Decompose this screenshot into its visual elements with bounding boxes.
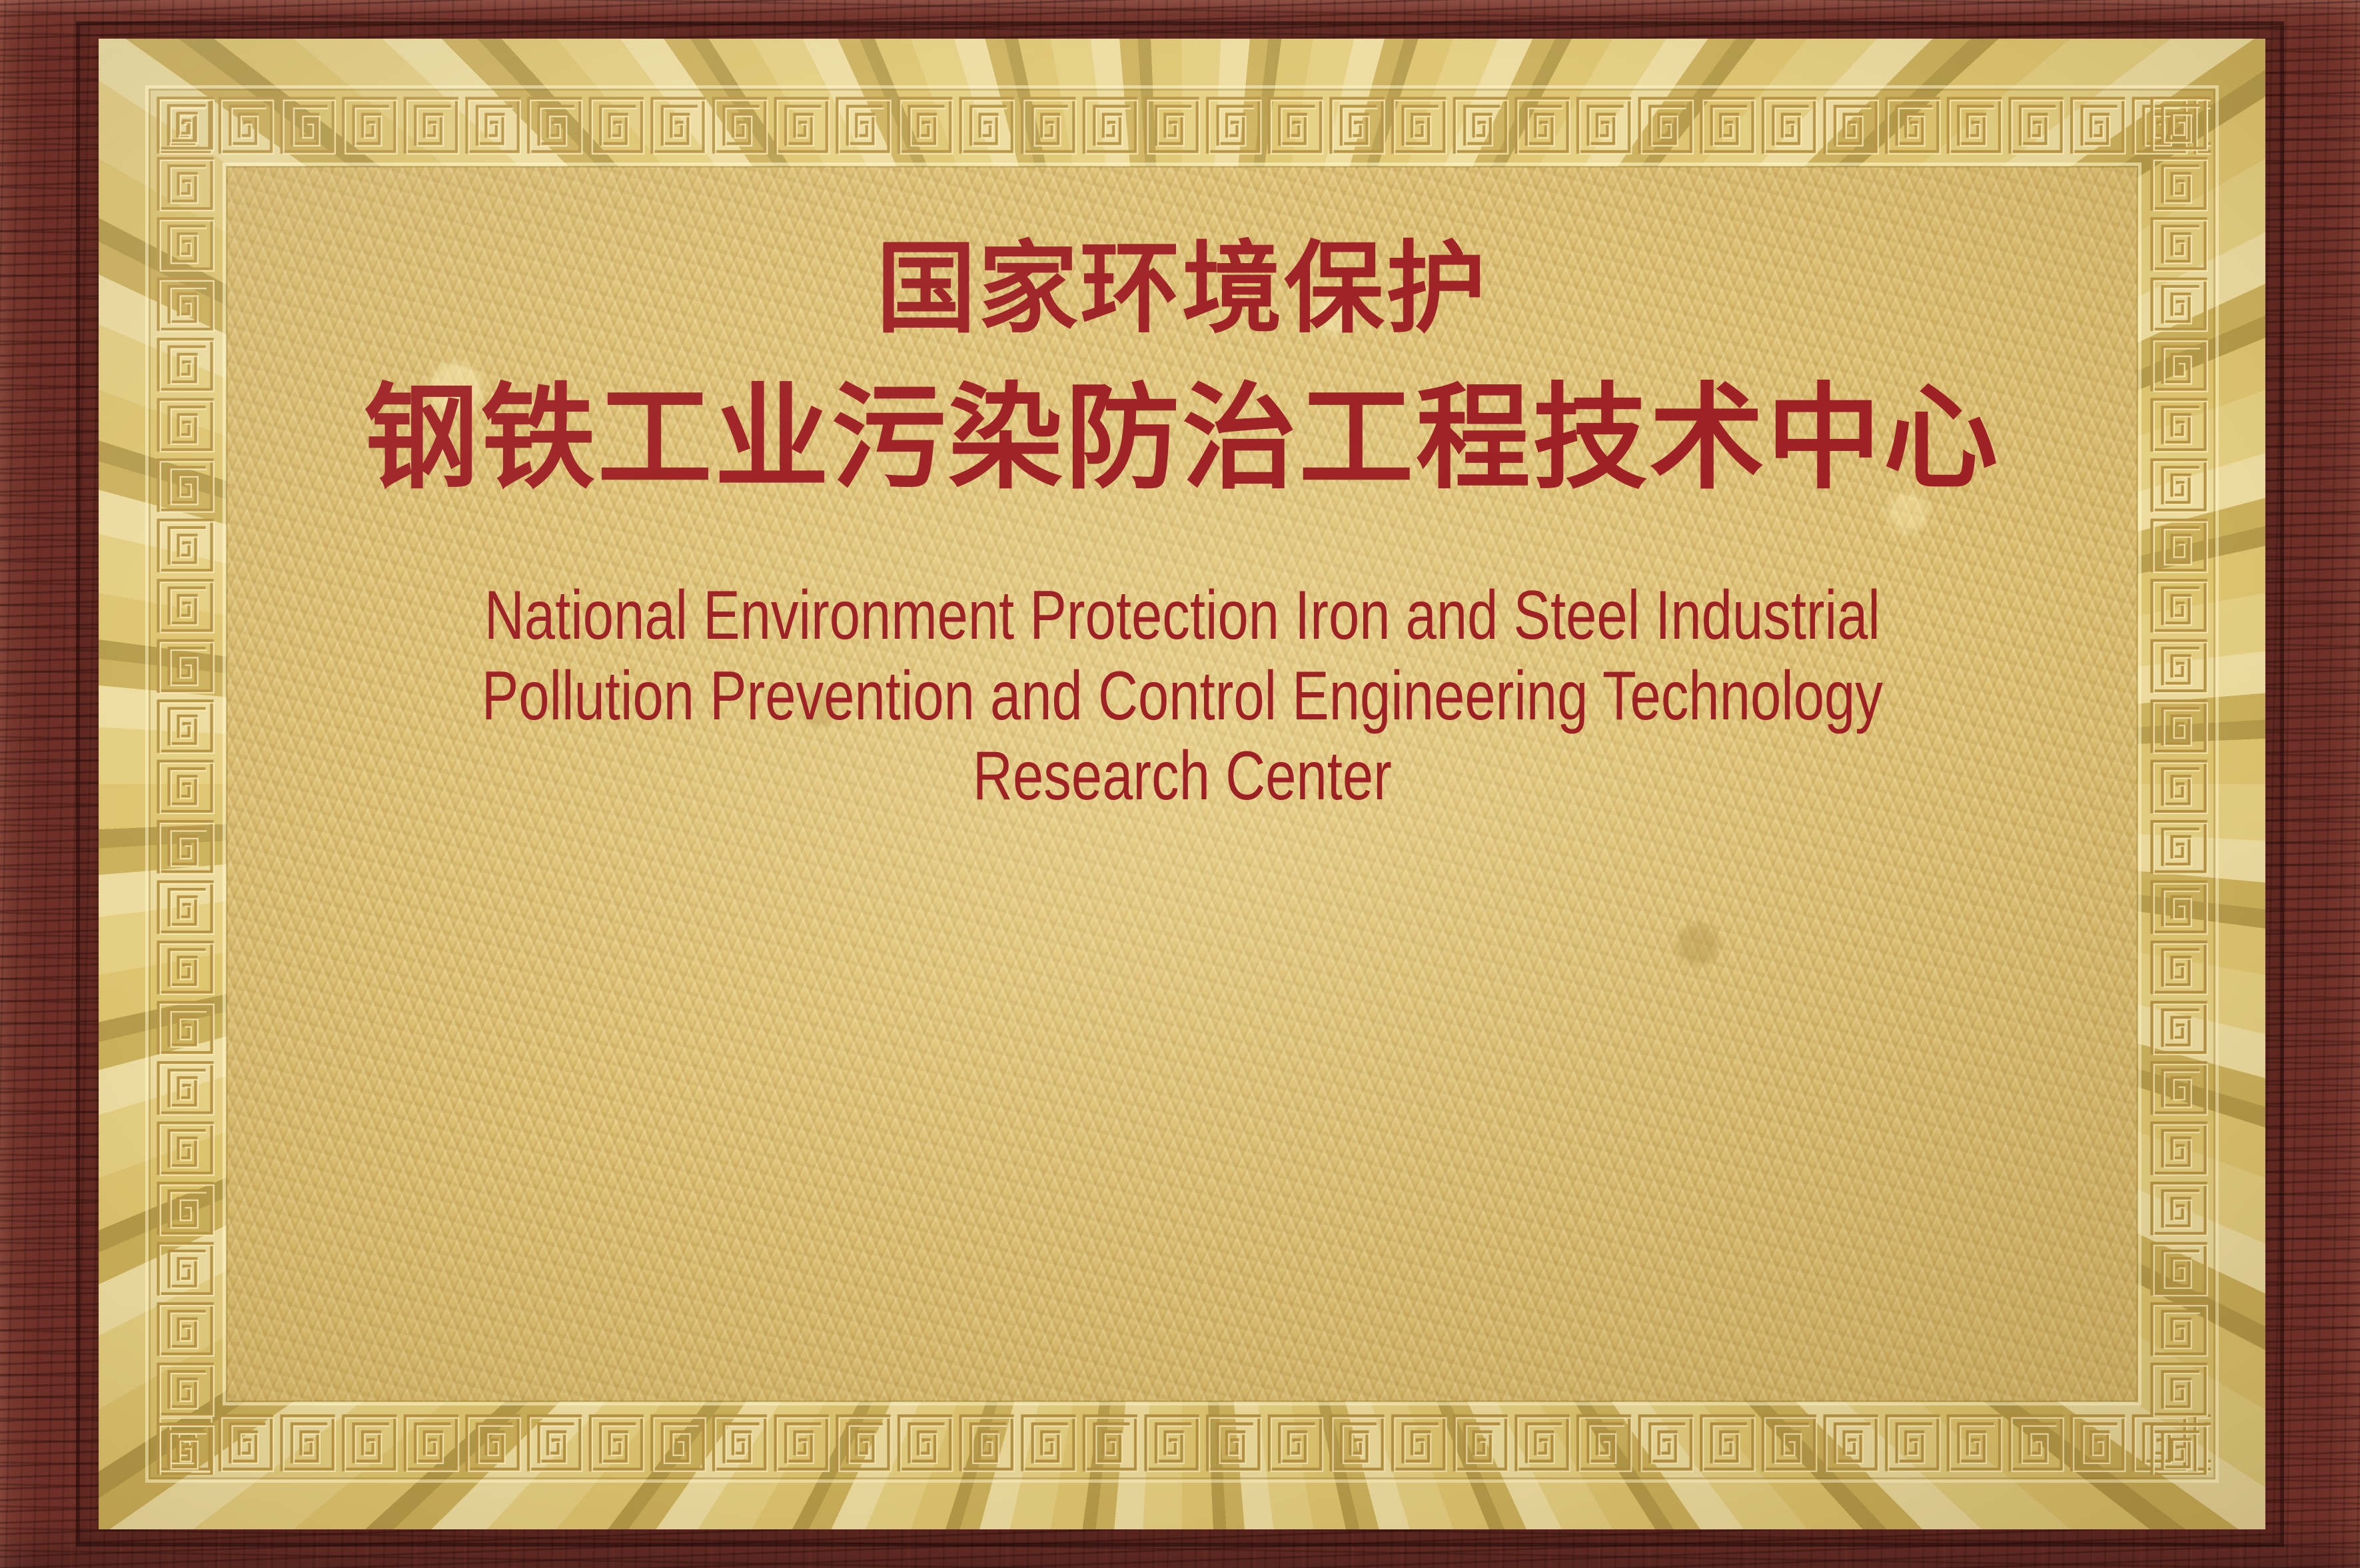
- gold-plate: 国家环境保护 钢铁工业污染防治工程技术中心 National Environme…: [99, 39, 2265, 1529]
- english-subtitle-line-3: Research Center: [482, 736, 1883, 817]
- award-plaque: 国家环境保护 钢铁工业污染防治工程技术中心 National Environme…: [0, 0, 2360, 1568]
- english-subtitle-line-2: Pollution Prevention and Control Enginee…: [482, 656, 1883, 737]
- english-subtitle-line-1: National Environment Protection Iron and…: [482, 576, 1883, 656]
- chinese-title-line-1: 国家环境保护: [876, 238, 1488, 338]
- plaque-text-block: 国家环境保护 钢铁工业污染防治工程技术中心 National Environme…: [227, 167, 2137, 1401]
- chinese-title-line-2: 钢铁工业污染防治工程技术中心: [364, 381, 2000, 496]
- meander-border-right: [2147, 93, 2211, 1475]
- meander-border-bottom: [153, 1411, 2211, 1475]
- english-subtitle: National Environment Protection Iron and…: [482, 576, 1883, 817]
- meander-border-left: [153, 93, 217, 1475]
- meander-border-top: [153, 93, 2211, 157]
